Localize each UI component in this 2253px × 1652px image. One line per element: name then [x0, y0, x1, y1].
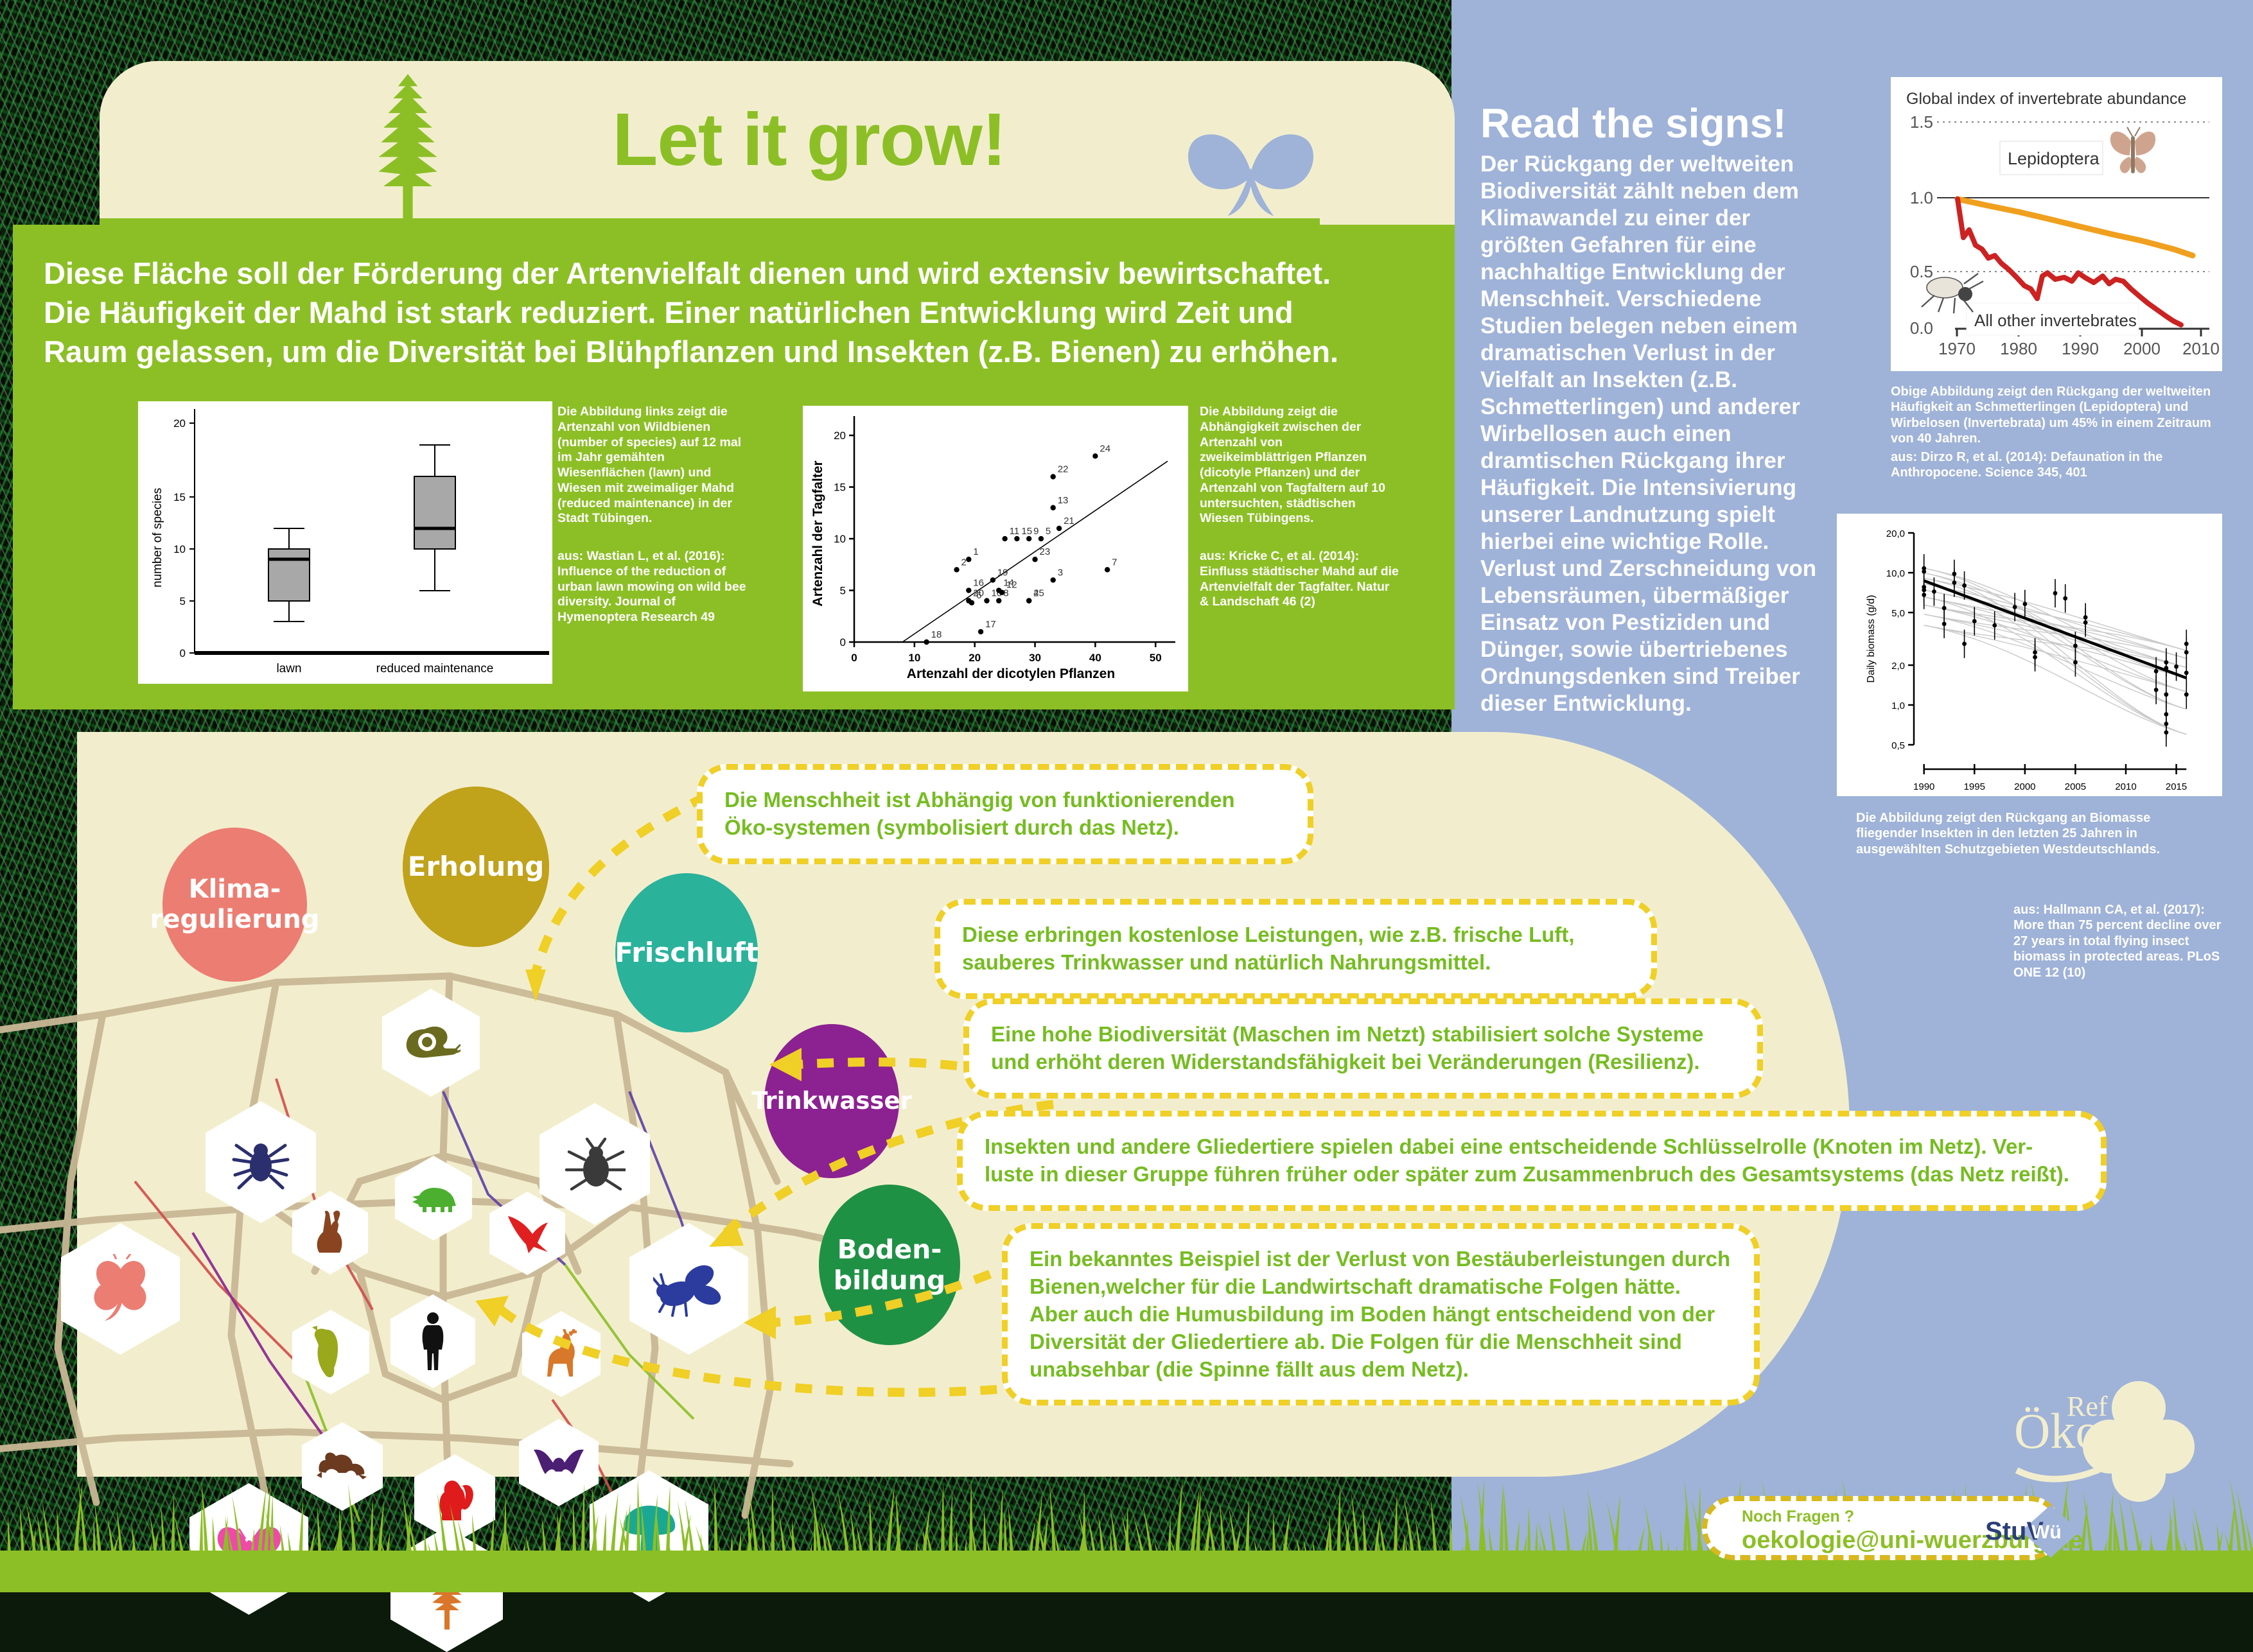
- swallow-icon: [504, 1212, 550, 1255]
- svg-text:10: 10: [173, 543, 186, 555]
- svg-text:11: 11: [1010, 526, 1020, 537]
- fig2-source: aus: Hallmann CA, et al. (2017): More th…: [2013, 902, 2225, 980]
- page-title: Let it grow!: [360, 96, 1259, 182]
- mushroom-icon: [620, 1503, 679, 1570]
- svg-text:10,0: 10,0: [1886, 568, 1905, 579]
- headline-line-1: Diese Fläche soll der Förderung der Arte…: [44, 254, 1425, 293]
- svg-text:1980: 1980: [2000, 339, 2037, 358]
- fig1-caption: Obige Abbildung zeigt den Rückgang der w…: [1891, 384, 2225, 447]
- tree-orange-icon: [416, 1550, 478, 1630]
- bubble-2: Diese erbringen kostenlose Leistungen, w…: [934, 899, 1657, 999]
- svg-text:2005: 2005: [2065, 781, 2086, 792]
- bubble-1: Die Menschheit ist Abhängig von funktion…: [697, 764, 1313, 864]
- svg-text:1: 1: [973, 546, 978, 557]
- chart1-caption: Die Abbildung links zeigt die Artenzahl …: [557, 404, 744, 526]
- annotation-all-other-invertebrates: All other invertebrates: [1974, 311, 2137, 330]
- svg-text:18: 18: [931, 629, 942, 640]
- svg-text:2010: 2010: [2182, 339, 2220, 358]
- svg-text:1990: 1990: [1913, 781, 1934, 792]
- butterfly-dicot-scatter-svg: 0102030405005101520123456789101112131415…: [803, 406, 1188, 691]
- service-circle-klimaregulierung[interactable]: Klima- regulierung: [162, 828, 307, 982]
- svg-text:lawn: lawn: [276, 662, 301, 675]
- squirrel-icon: [433, 1474, 477, 1523]
- svg-text:15: 15: [173, 491, 186, 503]
- svg-text:Artenzahl der dicotylen Pflanz: Artenzahl der dicotylen Pflanzen: [907, 666, 1115, 681]
- svg-text:0: 0: [180, 647, 186, 659]
- svg-text:25: 25: [1033, 588, 1044, 599]
- butterfly-pink-icon: [213, 1517, 285, 1581]
- snail-icon: [401, 1023, 460, 1063]
- svg-text:1970: 1970: [1938, 339, 1976, 358]
- human-icon: [419, 1311, 447, 1371]
- svg-text:20: 20: [973, 588, 984, 599]
- oeko-logo-oeko: Öko: [2014, 1403, 2100, 1459]
- svg-text:5: 5: [1046, 526, 1051, 537]
- service-label: Klima- regulierung: [150, 874, 320, 935]
- svg-text:5: 5: [840, 585, 846, 597]
- invertebrate-abundance-card: Global index of invertebrate abundance 1…: [1891, 77, 2222, 371]
- fig1-source: aus: Dirzo R, et al. (2014): Defaunation…: [1891, 449, 2225, 481]
- service-circle-erholung[interactable]: Erholung: [403, 787, 549, 947]
- contact-question: Noch Fragen ?: [1742, 1508, 1854, 1526]
- svg-text:50: 50: [1150, 652, 1162, 664]
- svg-text:number of species: number of species: [151, 488, 164, 587]
- clover-butterfly-icon: [85, 1254, 156, 1325]
- svg-text:30: 30: [1029, 652, 1041, 664]
- wild-bee-boxplot-card: 05 101520 number of species lawn reduced…: [138, 401, 552, 684]
- headline-paragraph: Diese Fläche soll der Förderung der Arte…: [44, 254, 1425, 371]
- chart2-caption: Die Abbildung zeigt die Abhängigkeit zwi…: [1200, 404, 1392, 526]
- flying-insect-biomass-card: 0,51,02,05,010,020,019901995200020052010…: [1837, 514, 2222, 796]
- svg-text:3: 3: [1058, 567, 1063, 578]
- svg-text:1,0: 1,0: [1891, 700, 1905, 711]
- stuv-logo: StuV Wü: [1981, 1502, 2084, 1560]
- svg-text:14: 14: [1003, 578, 1014, 589]
- chart1-source: aus: Wastian L, et al. (2016): Influence…: [557, 549, 750, 625]
- svg-text:24: 24: [1100, 443, 1110, 454]
- butterfly-icon: [1182, 125, 1320, 222]
- service-circle-bodenbildung[interactable]: Boden- bildung: [819, 1185, 960, 1345]
- svg-text:10: 10: [908, 652, 920, 664]
- hedgehog-icon: [410, 1183, 457, 1213]
- svg-text:0,5: 0,5: [1891, 740, 1905, 751]
- svg-text:13: 13: [1058, 495, 1069, 506]
- svg-text:22: 22: [1058, 464, 1069, 474]
- fig2-caption: Die Abbildung zeigt den Rückgang an Biom…: [1856, 810, 2203, 857]
- svg-text:7: 7: [1112, 557, 1117, 568]
- svg-text:0: 0: [840, 636, 846, 648]
- svg-text:20: 20: [834, 430, 846, 442]
- svg-text:Daily biomass (g/d): Daily biomass (g/d): [1866, 595, 1877, 683]
- svg-text:19: 19: [997, 567, 1008, 578]
- svg-text:2015: 2015: [2166, 781, 2187, 792]
- service-label: Trinkwasser: [751, 1087, 912, 1115]
- service-circle-frischluft[interactable]: Frischluft: [615, 873, 758, 1032]
- bubble-4: Insekten und andere Gliedertiere spielen…: [957, 1111, 2107, 1211]
- hare-icon: [310, 1209, 350, 1256]
- read-the-signs-title: Read the signs!: [1480, 100, 1787, 147]
- svg-text:21: 21: [1064, 516, 1074, 526]
- wild-bee-boxplot-svg: 05 101520 number of species lawn reduced…: [138, 401, 552, 684]
- bat-icon: [531, 1446, 586, 1479]
- service-label: Erholung: [408, 851, 544, 883]
- invertebrate-abundance-svg: Global index of invertebrate abundance 1…: [1891, 77, 2222, 371]
- oeko-ref-logo: Ref Öko: [1997, 1377, 2216, 1506]
- svg-text:40: 40: [1089, 652, 1101, 664]
- svg-text:reduced maintenance: reduced maintenance: [376, 662, 494, 675]
- svg-text:20: 20: [969, 652, 981, 664]
- svg-text:2,0: 2,0: [1891, 661, 1905, 672]
- flying-insect-biomass-svg: 0,51,02,05,010,020,019901995200020052010…: [1837, 514, 2222, 796]
- svg-text:15: 15: [1021, 526, 1032, 537]
- stuv-logo-suffix: Wü: [2031, 1522, 2062, 1543]
- svg-text:1995: 1995: [1964, 781, 1985, 792]
- svg-text:17: 17: [985, 619, 996, 630]
- svg-text:1.5: 1.5: [1910, 112, 1933, 132]
- beetle-icon: [564, 1138, 626, 1190]
- svg-text:0.0: 0.0: [1910, 318, 1933, 338]
- chart-title: Global index of invertebrate abundance: [1906, 90, 2186, 108]
- svg-text:20,0: 20,0: [1886, 528, 1905, 539]
- svg-text:2010: 2010: [2115, 781, 2136, 792]
- frog-icon: [317, 1448, 368, 1484]
- svg-text:5: 5: [180, 595, 186, 607]
- svg-text:Artenzahl der Tagfalter: Artenzahl der Tagfalter: [811, 460, 825, 606]
- svg-text:0.5: 0.5: [1910, 262, 1933, 281]
- headline-line-3: Raum gelassen, um die Diversität bei Blü…: [44, 332, 1425, 371]
- svg-text:9: 9: [1033, 526, 1039, 537]
- svg-text:20: 20: [173, 417, 186, 430]
- svg-text:15: 15: [834, 482, 846, 494]
- svg-text:10: 10: [834, 533, 846, 545]
- svg-text:2: 2: [961, 557, 967, 568]
- butterfly-dicot-scatter-card: 0102030405005101520123456789101112131415…: [803, 406, 1188, 691]
- annotation-lepidoptera: Lepidoptera: [2008, 149, 2100, 168]
- svg-text:2000: 2000: [2014, 781, 2035, 792]
- read-the-signs-body: Der Rückgang der weltweiten Biodiversitä…: [1480, 151, 1830, 717]
- svg-text:1990: 1990: [2062, 339, 2099, 358]
- headline-line-2: Die Häufigkeit der Mahd ist stark reduzi…: [44, 293, 1425, 332]
- svg-text:0: 0: [851, 652, 857, 664]
- woodpecker-icon: [312, 1325, 349, 1380]
- svg-text:23: 23: [1040, 546, 1051, 557]
- chart2-source: aus: Kricke C, et al. (2014): Einfluss s…: [1200, 549, 1399, 610]
- service-circle-trinkwasser[interactable]: Trinkwasser: [764, 1024, 899, 1178]
- svg-text:5,0: 5,0: [1891, 608, 1905, 619]
- bubble-5: Ein bekanntes Beispiel ist der Verlust v…: [1002, 1223, 1760, 1405]
- spider-icon: [230, 1131, 292, 1193]
- bee-icon: [653, 1258, 725, 1321]
- service-label: Boden- bildung: [834, 1234, 946, 1296]
- deer-icon: [538, 1329, 584, 1379]
- svg-text:16: 16: [973, 578, 984, 589]
- bubble-3: Eine hohe Biodiversität (Maschen im Netz…: [963, 998, 1763, 1099]
- svg-text:2000: 2000: [2123, 339, 2161, 358]
- service-label: Frischluft: [615, 937, 758, 969]
- svg-text:1.0: 1.0: [1910, 188, 1933, 207]
